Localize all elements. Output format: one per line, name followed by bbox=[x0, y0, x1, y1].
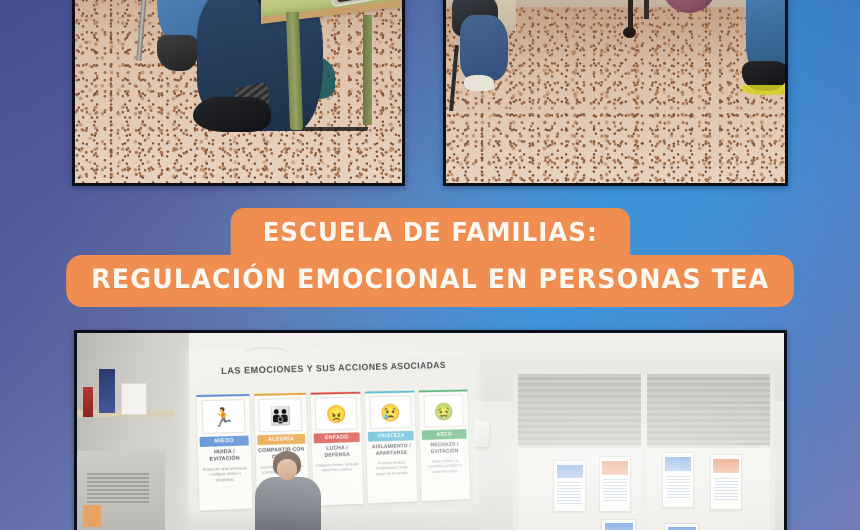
card-illustration: 🏃 bbox=[201, 399, 246, 434]
card-illustration: 🤢 bbox=[423, 394, 464, 427]
card-description: Evitar lo tóxico, la suciedad y proteger… bbox=[422, 458, 469, 476]
card-description: Protección ante amenazas o peligros (rea… bbox=[199, 466, 250, 485]
table-leg-back bbox=[363, 15, 372, 125]
wooden-table-leg-b bbox=[644, 0, 649, 19]
projected-slide: LAS EMOCIONES Y SUS ACCIONES ASOCIADAS 🏃… bbox=[189, 351, 475, 513]
running-person-icon: 🏃 bbox=[212, 408, 234, 426]
emotion-card: 🤢 ASCO RECHAZO / EVITACIÓN Evitar lo tóx… bbox=[419, 390, 470, 502]
white-sneaker bbox=[464, 75, 494, 91]
photo-bottom-presentation: LAS EMOCIONES Y SUS ACCIONES ASOCIADAS 🏃… bbox=[74, 330, 787, 530]
photo-top-right bbox=[443, 0, 788, 186]
sad-person-icon: 😢 bbox=[380, 404, 401, 422]
group-people-icon: 👪 bbox=[269, 407, 291, 425]
card-emotion-label: ENFADO bbox=[313, 432, 360, 443]
table-castor-wheel bbox=[623, 27, 636, 38]
presenter-body bbox=[255, 477, 321, 530]
card-emotion-label: MIEDO bbox=[200, 436, 249, 447]
wall-poster bbox=[601, 519, 636, 530]
disgust-face-icon: 🤢 bbox=[433, 403, 454, 421]
card-action-label: RECHAZO / EVITACIÓN bbox=[421, 441, 468, 456]
emotion-card: 😢 TRISTEZA AISLAMIENTO / APARTARSE Proce… bbox=[365, 391, 417, 504]
card-description: Establece límites, defiende derechos o j… bbox=[313, 462, 362, 475]
person-boot-left bbox=[157, 35, 199, 71]
boot-yellow-sole bbox=[742, 85, 788, 95]
orange-note-on-wall bbox=[83, 505, 101, 527]
title-line-1: ESCUELA DE FAMILIAS: bbox=[230, 208, 629, 257]
window-mullion bbox=[641, 374, 647, 530]
card-illustration: 👪 bbox=[259, 398, 303, 432]
poster-title: ESCUELA DE FAMILIAS: REGULACIÓN EMOCIONA… bbox=[0, 208, 860, 307]
photo-top-right-scene bbox=[446, 0, 785, 183]
wall-poster bbox=[710, 454, 743, 510]
card-action-label: LUCHA / DEFENSA bbox=[313, 445, 362, 461]
red-folder bbox=[83, 387, 93, 417]
standing-person-jeans bbox=[746, 0, 788, 69]
card-action-label: HUIDA / EVITACIÓN bbox=[199, 448, 250, 464]
wall-poster bbox=[662, 452, 695, 508]
card-description: Procesar pérdida, recuperarse y recibir … bbox=[368, 460, 416, 478]
card-illustration: 😠 bbox=[315, 397, 358, 431]
cabinet-vent-grill bbox=[87, 473, 149, 503]
photo-bottom-scene: LAS EMOCIONES Y SUS ACCIONES ASOCIADAS 🏃… bbox=[77, 333, 784, 530]
wall-poster bbox=[553, 460, 586, 512]
angry-person-icon: 😠 bbox=[325, 405, 346, 423]
photo-top-left-scene bbox=[75, 0, 402, 183]
window-wall bbox=[513, 369, 775, 530]
wall-poster bbox=[664, 523, 699, 530]
card-illustration: 😢 bbox=[370, 395, 412, 429]
wall-poster bbox=[599, 456, 632, 512]
title-line-2: REGULACIÓN EMOCIONAL EN PERSONAS TEA bbox=[66, 255, 794, 307]
card-action-label: AISLAMIENTO / APARTARSE bbox=[368, 443, 416, 459]
photo-top-left bbox=[72, 0, 405, 186]
presenter-face bbox=[277, 459, 297, 480]
slide-title: LAS EMOCIONES Y SUS ACCIONES ASOCIADAS bbox=[197, 358, 468, 379]
paper-box bbox=[121, 383, 147, 415]
emotion-card: 🏃 MIEDO HUIDA / EVITACIÓN Protección ant… bbox=[196, 394, 252, 511]
card-emotion-label: ALEGRÍA bbox=[257, 434, 305, 445]
person-black-shoe bbox=[193, 97, 271, 132]
card-emotion-label: ASCO bbox=[422, 429, 467, 440]
person-seated-left bbox=[460, 15, 508, 81]
card-emotion-label: TRISTEZA bbox=[368, 431, 414, 442]
blue-binder bbox=[99, 369, 115, 413]
slide-emotion-cards: 🏃 MIEDO HUIDA / EVITACIÓN Protección ant… bbox=[196, 390, 470, 511]
